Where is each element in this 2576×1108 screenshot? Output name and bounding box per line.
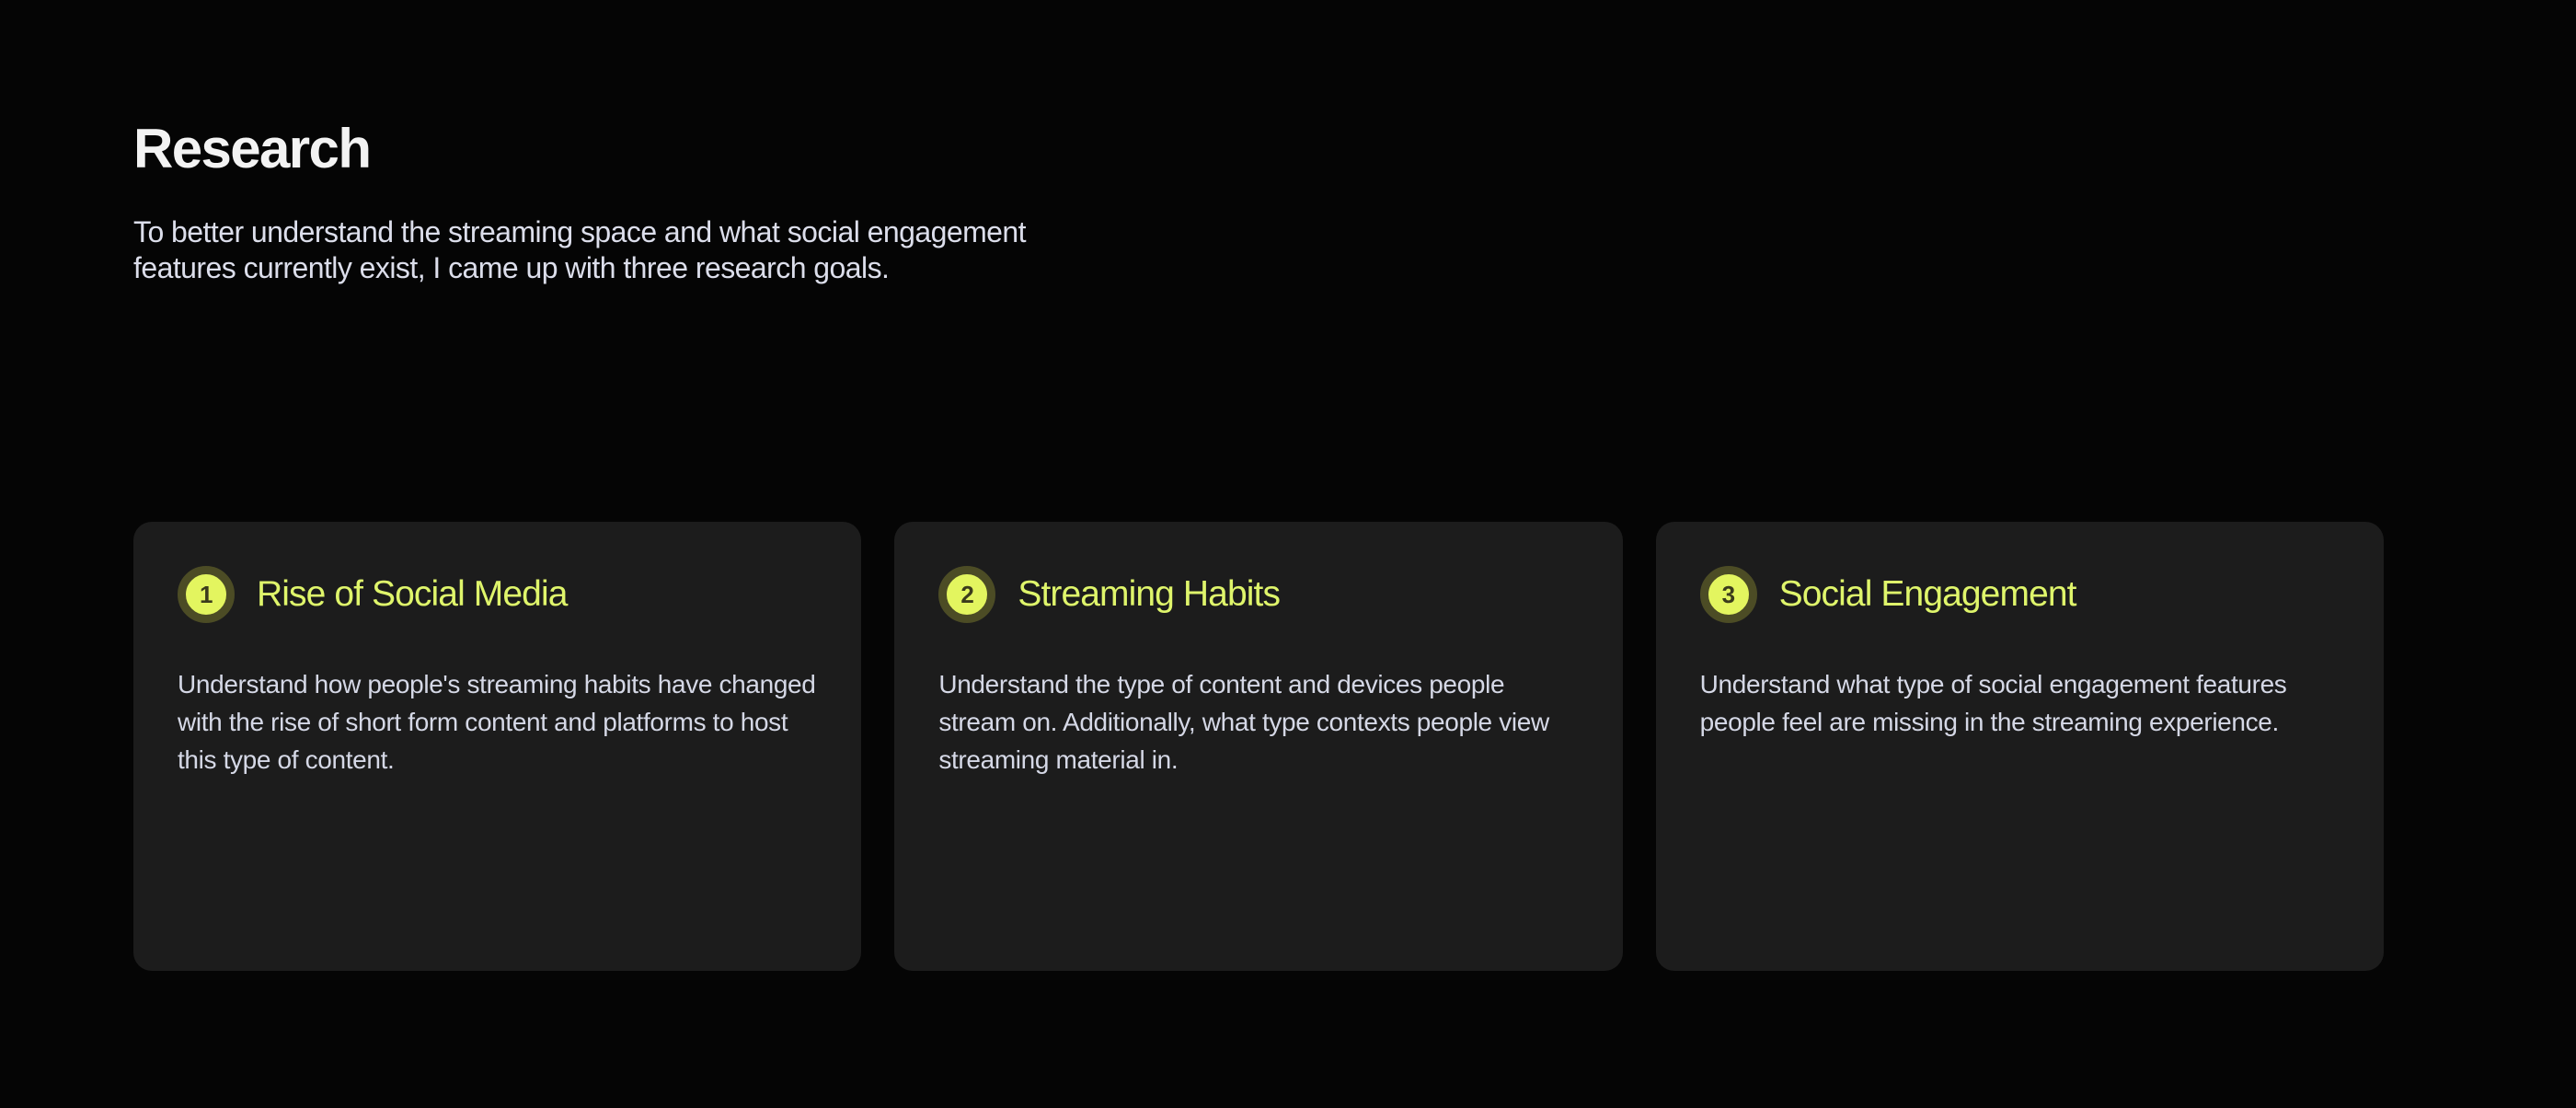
card-body-text: Understand the type of content and devic… bbox=[938, 665, 1578, 779]
research-goal-card[interactable]: 3 Social Engagement Understand what type… bbox=[1656, 522, 2384, 971]
page-subtitle-line-1: To better understand the streaming space… bbox=[133, 214, 1421, 250]
card-title: Social Engagement bbox=[1779, 575, 2076, 615]
research-goals-grid: 1 Rise of Social Media Understand how pe… bbox=[133, 522, 2384, 971]
page-subtitle-line-2: features currently exist, I came up with… bbox=[133, 250, 1421, 286]
card-header: 2 Streaming Habits bbox=[938, 566, 1578, 623]
card-title: Streaming Habits bbox=[1018, 575, 1280, 615]
number-badge-icon: 3 bbox=[1700, 566, 1757, 623]
intro-block: Research To better understand the stream… bbox=[133, 120, 1789, 286]
card-header: 3 Social Engagement bbox=[1700, 566, 2340, 623]
page-title: Research bbox=[133, 120, 1789, 178]
card-header: 1 Rise of Social Media bbox=[178, 566, 817, 623]
research-section: Research To better understand the stream… bbox=[0, 0, 2576, 1108]
page-subtitle: To better understand the streaming space… bbox=[133, 214, 1421, 286]
card-body-text: Understand how people's streaming habits… bbox=[178, 665, 817, 779]
card-title: Rise of Social Media bbox=[257, 575, 568, 615]
card-body-text: Understand what type of social engagemen… bbox=[1700, 665, 2340, 741]
number-badge-icon: 2 bbox=[938, 566, 995, 623]
research-goal-card[interactable]: 2 Streaming Habits Understand the type o… bbox=[894, 522, 1622, 971]
research-goal-card[interactable]: 1 Rise of Social Media Understand how pe… bbox=[133, 522, 861, 971]
number-badge-icon: 1 bbox=[178, 566, 235, 623]
